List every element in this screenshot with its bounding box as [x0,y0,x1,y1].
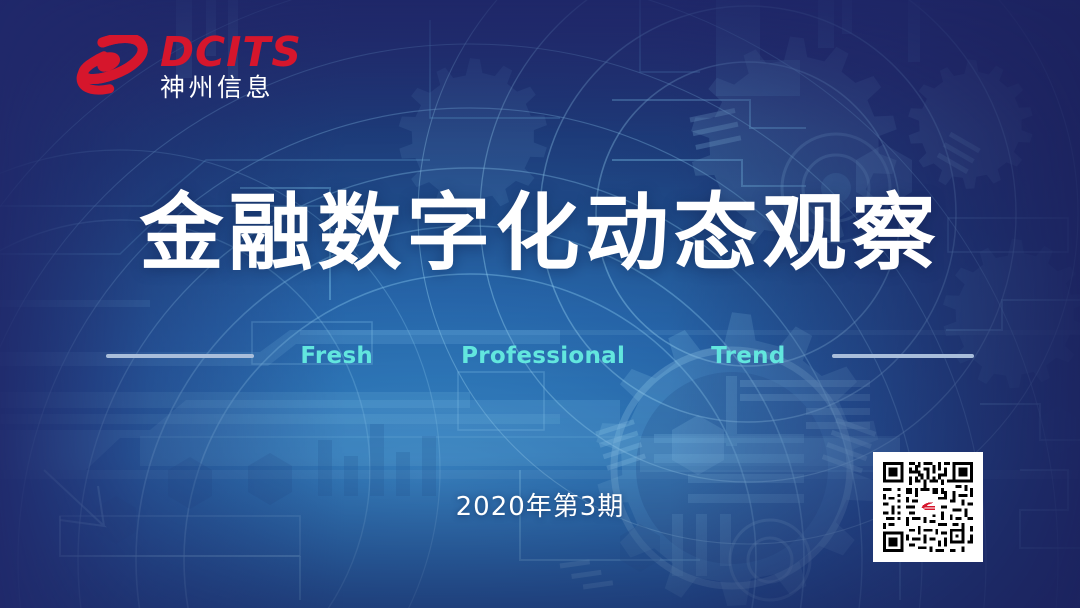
brand-logo: DCITS 神州信息 [72,30,302,102]
tagline-row: Fresh Professional Trend [0,338,1080,374]
tagline-word-trend: Trend [711,343,785,369]
tagline-word-fresh: Fresh [300,343,373,369]
page-title: 金融数字化动态观察 [0,188,1080,279]
tagline-word-professional: Professional [461,343,625,369]
qr-code[interactable] [873,452,983,562]
tagline-rule-right [832,354,974,358]
slide-canvas: DCITS 神州信息 金融数字化动态观察 Fresh Professional … [0,0,1080,608]
logo-wordmark: DCITS 神州信息 [160,30,302,102]
qr-code-image [880,459,976,555]
logo-latin-text: DCITS [160,32,302,72]
dcits-swoosh-icon [72,35,150,97]
tagline-rule-left [106,354,254,358]
logo-chinese-text: 神州信息 [160,74,302,102]
